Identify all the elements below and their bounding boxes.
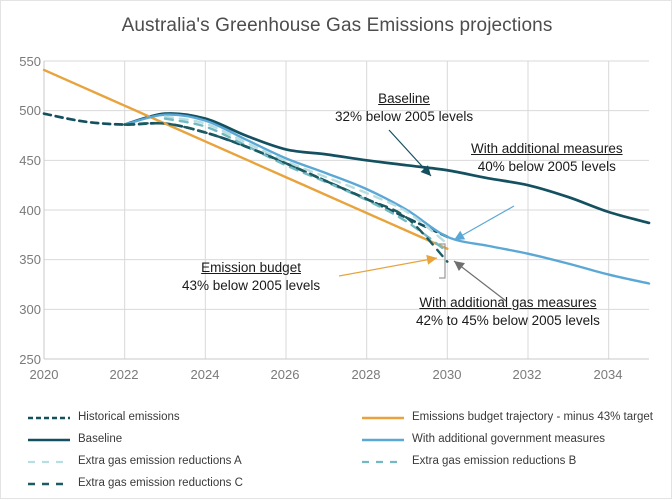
legend-swatch xyxy=(361,411,405,423)
series-line xyxy=(44,114,447,237)
legend-item[interactable]: Historical emissions xyxy=(27,406,243,428)
legend: Historical emissionsBaselineExtra gas em… xyxy=(27,406,657,496)
annotation-head: Baseline xyxy=(335,90,473,108)
legend-label: Extra gas emission reductions B xyxy=(412,455,576,467)
annotation-sub: 42% to 45% below 2005 levels xyxy=(416,312,600,330)
legend-label: With additional government measures xyxy=(412,433,605,445)
legend-swatch xyxy=(27,477,71,489)
legend-swatch xyxy=(361,433,405,445)
arrow-emission-budget xyxy=(339,255,437,276)
legend-swatch xyxy=(27,433,71,445)
annotation-sub: 40% below 2005 levels xyxy=(471,158,623,176)
series-line xyxy=(165,117,447,244)
legend-item[interactable]: Extra gas emission reductions C xyxy=(27,472,243,494)
legend-item[interactable]: Extra gas emission reductions A xyxy=(27,450,243,472)
annotation-head: Emission budget xyxy=(182,259,320,277)
legend-item[interactable]: Extra gas emission reductions B xyxy=(361,450,653,472)
legend-label: Extra gas emission reductions A xyxy=(78,455,242,467)
arrow-additional-measures xyxy=(454,206,514,240)
legend-swatch xyxy=(27,455,71,467)
legend-column-left: Historical emissionsBaselineExtra gas em… xyxy=(27,406,243,494)
annotation-sub: 43% below 2005 levels xyxy=(182,277,320,295)
legend-column-right: Emissions budget trajectory - minus 43% … xyxy=(361,406,653,472)
annotation-head: With additional measures xyxy=(471,140,623,158)
annotation-sub: 32% below 2005 levels xyxy=(335,108,473,126)
legend-swatch xyxy=(27,411,71,423)
annotation-head: With additional gas measures xyxy=(416,294,600,312)
legend-swatch xyxy=(361,455,405,467)
legend-item[interactable]: With additional government measures xyxy=(361,428,653,450)
legend-label: Emissions budget trajectory - minus 43% … xyxy=(412,411,653,423)
annotation-additional-measures: With additional measures 40% below 2005 … xyxy=(471,140,623,176)
range-bracket xyxy=(439,244,445,278)
legend-item[interactable]: Baseline xyxy=(27,428,243,450)
annotation-gas-measures: With additional gas measures 42% to 45% … xyxy=(416,294,600,330)
arrow-baseline xyxy=(389,130,431,176)
chart-container: Australia's Greenhouse Gas Emissions pro… xyxy=(0,0,672,499)
legend-label: Extra gas emission reductions C xyxy=(78,477,243,489)
legend-item[interactable]: Emissions budget trajectory - minus 43% … xyxy=(361,406,653,428)
annotation-emission-budget: Emission budget 43% below 2005 levels xyxy=(182,259,320,295)
legend-label: Baseline xyxy=(78,433,122,445)
legend-label: Historical emissions xyxy=(78,411,180,423)
annotation-baseline: Baseline 32% below 2005 levels xyxy=(335,90,473,126)
